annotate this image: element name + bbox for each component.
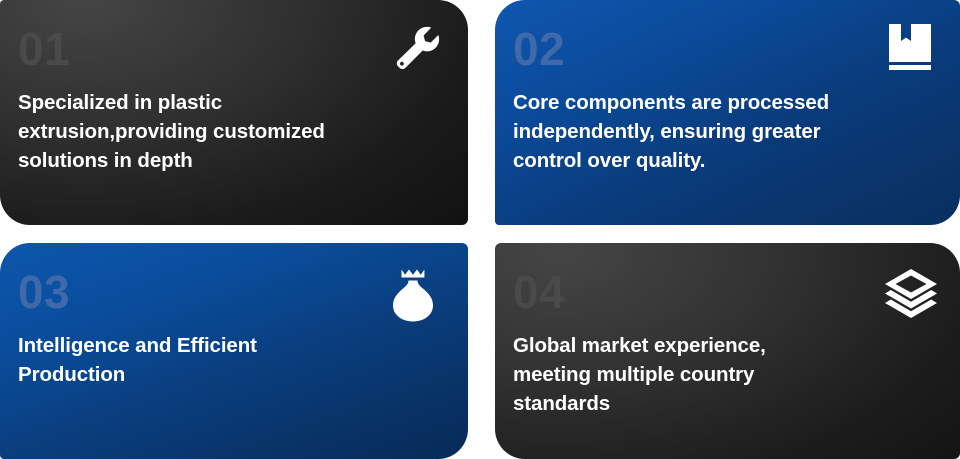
feature-cards-grid: 01 Specialized in plastic extrusion,prov… [0,0,960,459]
card-title-03: Intelligence and Efficient Production [18,331,444,389]
card-number-02: 02 [513,26,936,72]
card-title-02: Core components are processed independen… [513,88,936,175]
card-number-01: 01 [18,26,444,72]
feature-card-02[interactable]: 02 Core components are processed indepen… [495,0,960,225]
feature-card-01[interactable]: 01 Specialized in plastic extrusion,prov… [0,0,468,225]
feature-card-04[interactable]: 04 Global market experience, meeting mul… [495,243,960,459]
card-number-04: 04 [513,269,936,315]
card-title-01: Specialized in plastic extrusion,providi… [18,88,444,175]
card-title-04: Global market experience, meeting multip… [513,331,936,418]
feature-card-03[interactable]: 03 Intelligence and Efficient Production [0,243,468,459]
card-number-03: 03 [18,269,444,315]
